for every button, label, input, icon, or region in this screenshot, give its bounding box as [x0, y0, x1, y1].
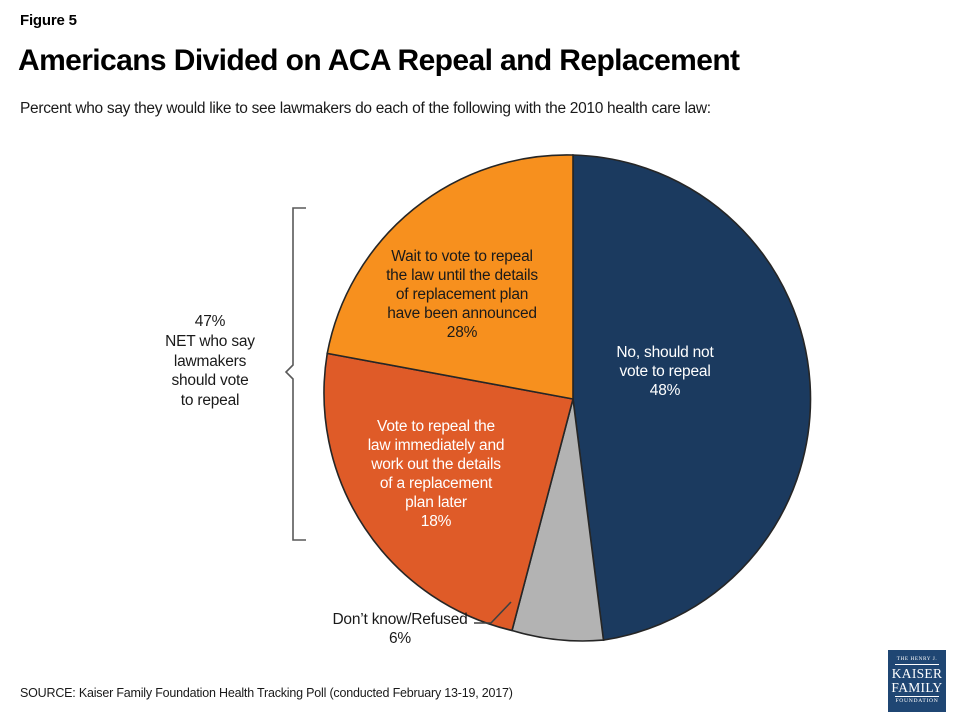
- logo-kaiser-text: KAISER: [892, 665, 943, 681]
- kaiser-family-foundation-logo: THE HENRY J. KAISER FAMILY FOUNDATION: [888, 650, 946, 712]
- slice-label-wait-to-vote: Wait to vote to repeal the law until the…: [348, 248, 576, 343]
- slice-label-no-repeal: No, should not vote to repeal 48%: [578, 344, 752, 401]
- net-bracket: [286, 208, 306, 540]
- logo-top-text: THE HENRY J.: [895, 657, 939, 665]
- slice-label-repeal-immediately: Vote to repeal the law immediately and w…: [338, 418, 534, 531]
- logo-foundation-text: FOUNDATION: [895, 696, 939, 705]
- net-annotation-label: 47% NET who say lawmakers should vote to…: [135, 312, 285, 411]
- slice-label-dont-know: Don’t know/Refused 6%: [300, 610, 500, 649]
- source-note: SOURCE: Kaiser Family Foundation Health …: [20, 686, 513, 700]
- logo-family-text: FAMILY: [891, 681, 942, 695]
